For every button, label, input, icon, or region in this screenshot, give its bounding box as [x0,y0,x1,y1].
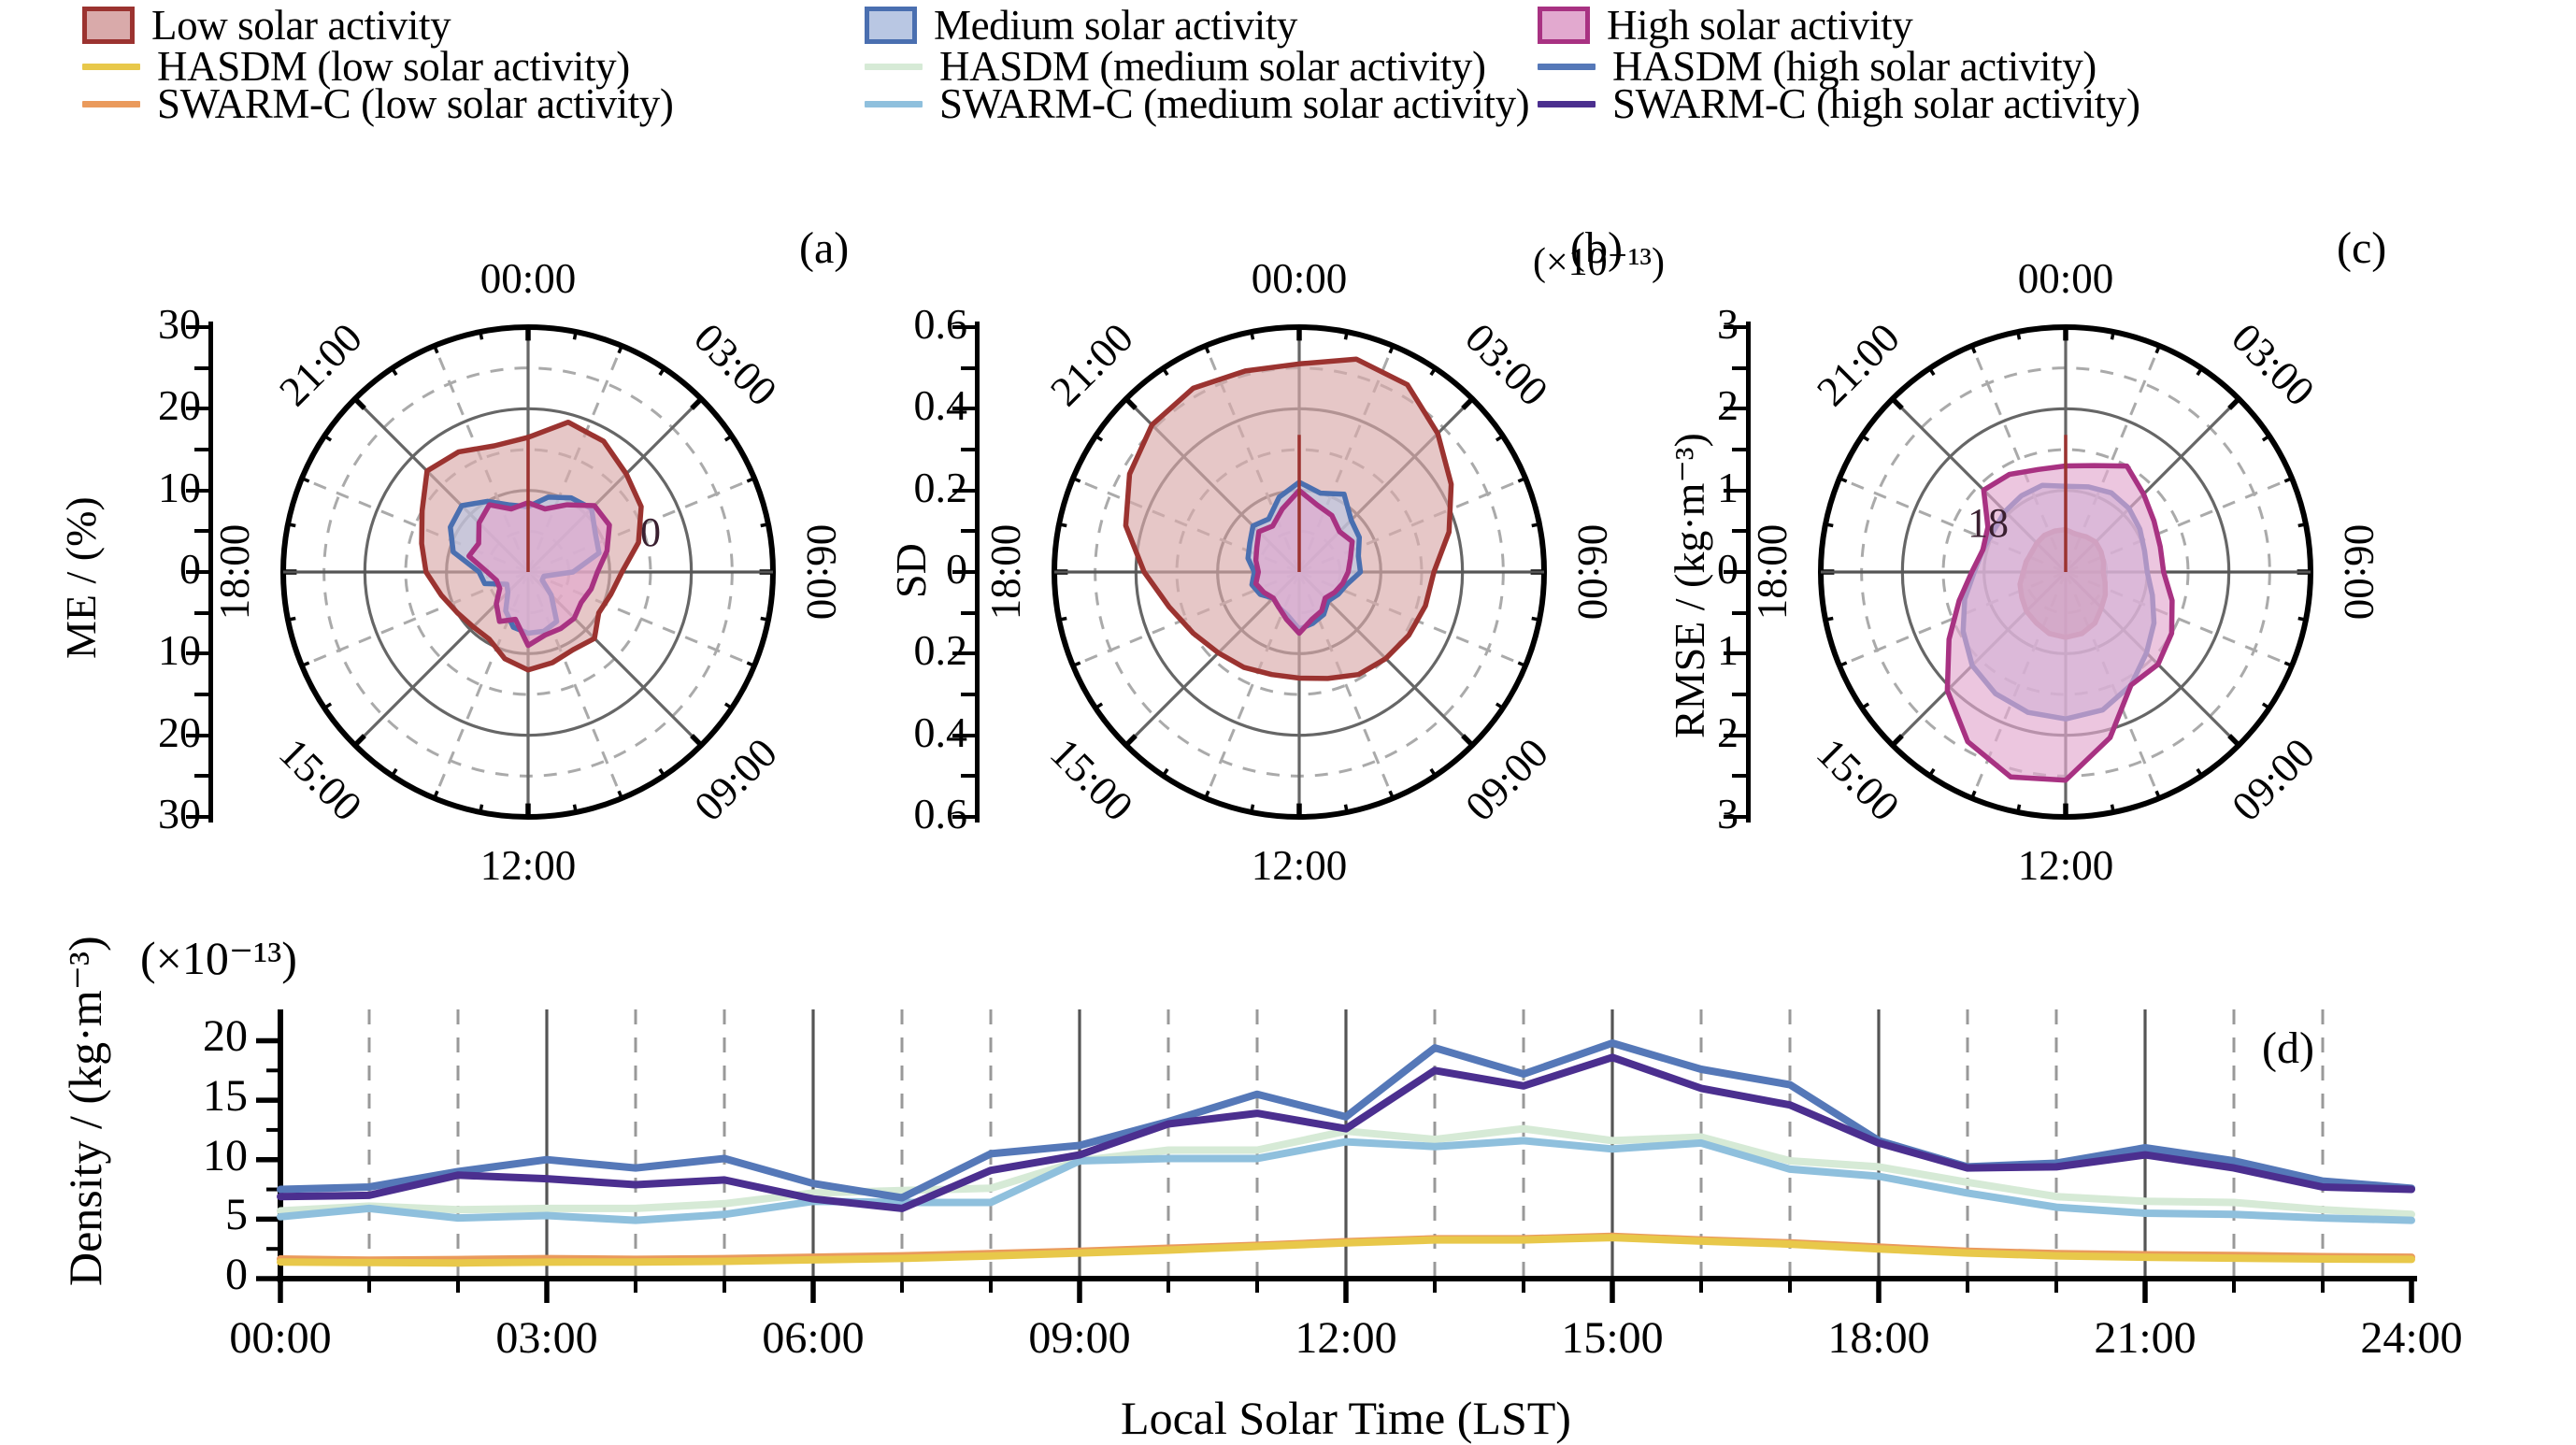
radial-tick-label: 20 [61,708,201,757]
angular-label-2100: 21:00 [1807,313,1909,415]
legend-high-solar-activity-label: High solar activity [1607,5,1912,47]
polar-series-2 [469,503,609,646]
radial-axis-tick [1732,529,1746,533]
x-tick-label: 18:00 [1757,1312,2000,1364]
legend-swarmc-low-label: SWARM-C (low solar activity) [157,83,674,125]
panel-axis-title: ME / (%) [56,496,106,659]
angular-label-2100: 21:00 [1040,313,1142,415]
radial-axis-tick [961,774,975,778]
radial-axis-tick [961,448,975,451]
y-axis-title: Density / (kg·m⁻³) [58,936,112,1286]
radial-axis-tick [952,651,975,655]
polar-plot-a [0,0,2576,935]
inner-annotation: 0 [640,508,661,556]
radial-tick-label: 2 [1598,380,1739,430]
x-tick-label: 15:00 [1491,1312,1734,1364]
angular-label-0000: 00:00 [1252,254,1348,303]
radial-axis-tick [186,489,208,493]
polar-series-1 [451,497,599,634]
polar-plot-c [0,0,2576,935]
line-chart-svg [0,0,2576,1443]
polar-series-2 [1256,491,1352,634]
radial-axis-tick [186,734,208,737]
radial-axis-tick [952,734,975,737]
panel-tag: (d) [2262,1023,2314,1074]
angular-label-0900: 09:00 [2223,729,2325,831]
legend-swarmc-medium-line-sample [865,101,923,107]
y-tick-label: 15 [93,1070,248,1122]
y-tick-label: 5 [93,1189,248,1240]
legend-hasdm-medium[interactable]: HASDM (medium solar activity) [865,49,1486,84]
radial-axis-tick [1732,774,1746,778]
angular-label-2100: 21:00 [269,313,371,415]
radial-axis-tick [194,366,208,370]
y-tick-label: 0 [93,1249,248,1300]
radial-axis-tick [952,570,975,574]
legend-swarmc-high-line-sample [1538,101,1596,107]
radial-axis-tick [1724,651,1746,655]
radial-axis-tick [952,325,975,329]
radial-axis-tick [1724,489,1746,493]
angular-label-1200: 12:00 [480,841,577,890]
panel-tag: (c) [2337,222,2386,274]
radial-axis-tick [186,570,208,574]
y-tick-label: 20 [93,1010,248,1062]
x-tick-label: 09:00 [958,1312,1201,1364]
radial-axis-tick [961,693,975,696]
angular-label-0300: 03:00 [2223,313,2325,415]
line-series-4 [280,1237,2411,1261]
radial-tick-label: 0.2 [827,463,967,512]
legend-low-solar-activity[interactable]: Low solar activity [82,6,451,45]
radial-axis-tick [1732,448,1746,451]
legend-swarmc-low[interactable]: SWARM-C (low solar activity) [82,86,674,122]
radial-axis-tick [186,815,208,819]
radial-axis-tick [1724,734,1746,737]
angular-label-1800: 18:00 [981,524,1030,621]
radial-axis-tick [194,693,208,696]
radial-axis-tick [952,815,975,819]
x-tick-label: 06:00 [692,1312,935,1364]
legend-low-solar-activity-swatch [82,7,135,44]
legend-swarmc-high-label: SWARM-C (high solar activity) [1612,83,2140,125]
y-tick-label: 10 [93,1130,248,1181]
legend: Low solar activityMedium solar activityH… [0,0,2576,110]
legend-hasdm-low[interactable]: HASDM (low solar activity) [82,49,630,84]
panel-axis-title: SD [886,543,936,598]
line-series-1 [280,1057,2411,1209]
legend-medium-solar-activity-label: Medium solar activity [934,5,1297,47]
angular-label-0600: 06:00 [2335,524,2383,621]
radial-axis-tick [1724,570,1746,574]
x-tick-label: 00:00 [159,1312,402,1364]
radial-tick-label: 3 [1598,299,1739,349]
angular-label-1500: 15:00 [1040,729,1142,831]
radial-axis-tick [1732,693,1746,696]
angular-label-1800: 18:00 [1748,524,1796,621]
polar-series-0 [2020,530,2105,637]
polar-series-0 [1125,359,1451,679]
radial-axis-tick [1724,325,1746,329]
legend-hasdm-high-line-sample [1538,64,1596,70]
legend-medium-solar-activity-swatch [865,7,917,44]
polar-series-0 [422,422,641,670]
radial-tick-label: 0.4 [827,380,967,430]
radial-axis-tick [952,407,975,410]
angular-label-0900: 09:00 [685,729,787,831]
legend-hasdm-high[interactable]: HASDM (high solar activity) [1538,49,2097,84]
radial-axis-tick [1732,611,1746,615]
radial-tick-label: 30 [61,299,201,349]
legend-swarmc-medium-label: SWARM-C (medium solar activity) [939,83,1529,125]
angular-label-1500: 15:00 [269,729,371,831]
radial-axis-tick [186,651,208,655]
radial-axis-tick [961,366,975,370]
radial-tick-label: 0.6 [827,299,967,349]
polar-plot-b [0,0,2576,935]
radial-axis-spine [975,322,980,823]
x-tick-label: 24:00 [2290,1312,2533,1364]
angular-label-1500: 15:00 [1807,729,1909,831]
legend-swarmc-medium[interactable]: SWARM-C (medium solar activity) [865,86,1529,122]
angular-label-1800: 18:00 [210,524,259,621]
radial-tick-label: 3 [1598,789,1739,838]
angular-label-1200: 12:00 [2018,841,2114,890]
angular-label-0300: 03:00 [685,313,787,415]
x-tick-label: 21:00 [2024,1312,2267,1364]
x-axis-title: Local Solar Time (LST) [1038,1391,1654,1445]
radial-axis-tick [194,448,208,451]
radial-axis-tick [194,611,208,615]
radial-axis-tick [961,611,975,615]
radial-tick-label: 20 [61,380,201,430]
radial-axis-tick [194,529,208,533]
line-series-2 [280,1129,2411,1215]
radial-axis-tick [1724,407,1746,410]
radial-axis-tick [194,774,208,778]
legend-medium-solar-activity[interactable]: Medium solar activity [865,6,1297,45]
polar-series-1 [1248,482,1360,629]
line-series-0 [280,1043,2411,1198]
angular-label-0000: 00:00 [480,254,577,303]
radial-tick-label: 0.2 [827,625,967,675]
legend-hasdm-medium-line-sample [865,64,923,70]
panel-tag: (a) [799,222,849,274]
radial-axis-tick [961,529,975,533]
radial-tick-label: 0.4 [827,708,967,757]
legend-low-solar-activity-label: Low solar activity [151,5,451,47]
angular-label-0300: 03:00 [1456,313,1558,415]
angular-label-0000: 00:00 [2018,254,2114,303]
angular-label-0900: 09:00 [1456,729,1558,831]
line-series-5 [280,1238,2411,1263]
axis-unit-prefix: (×10⁻¹³) [1533,238,1665,285]
inner-annotation: 18 [1968,499,2009,547]
panel-axis-title: RMSE / (kg·m⁻³) [1664,433,1714,738]
legend-high-solar-activity-swatch [1538,7,1590,44]
figure-root: Low solar activityMedium solar activityH… [0,0,2576,1443]
radial-axis-tick [186,407,208,410]
radial-axis-tick [952,489,975,493]
legend-swarmc-low-line-sample [82,101,140,107]
radial-tick-label: 0.6 [827,789,967,838]
radial-axis-tick [186,325,208,329]
radial-axis-tick [1724,815,1746,819]
line-series-3 [280,1140,2411,1220]
radial-tick-label: 30 [61,789,201,838]
legend-high-solar-activity[interactable]: High solar activity [1538,6,1912,45]
x-tick-label: 03:00 [425,1312,668,1364]
angular-label-1200: 12:00 [1252,841,1348,890]
legend-hasdm-low-line-sample [82,64,140,70]
y-axis-unit-prefix: (×10⁻¹³) [140,931,297,985]
x-tick-label: 12:00 [1224,1312,1467,1364]
legend-swarmc-high[interactable]: SWARM-C (high solar activity) [1538,86,2140,122]
radial-axis-tick [1732,366,1746,370]
